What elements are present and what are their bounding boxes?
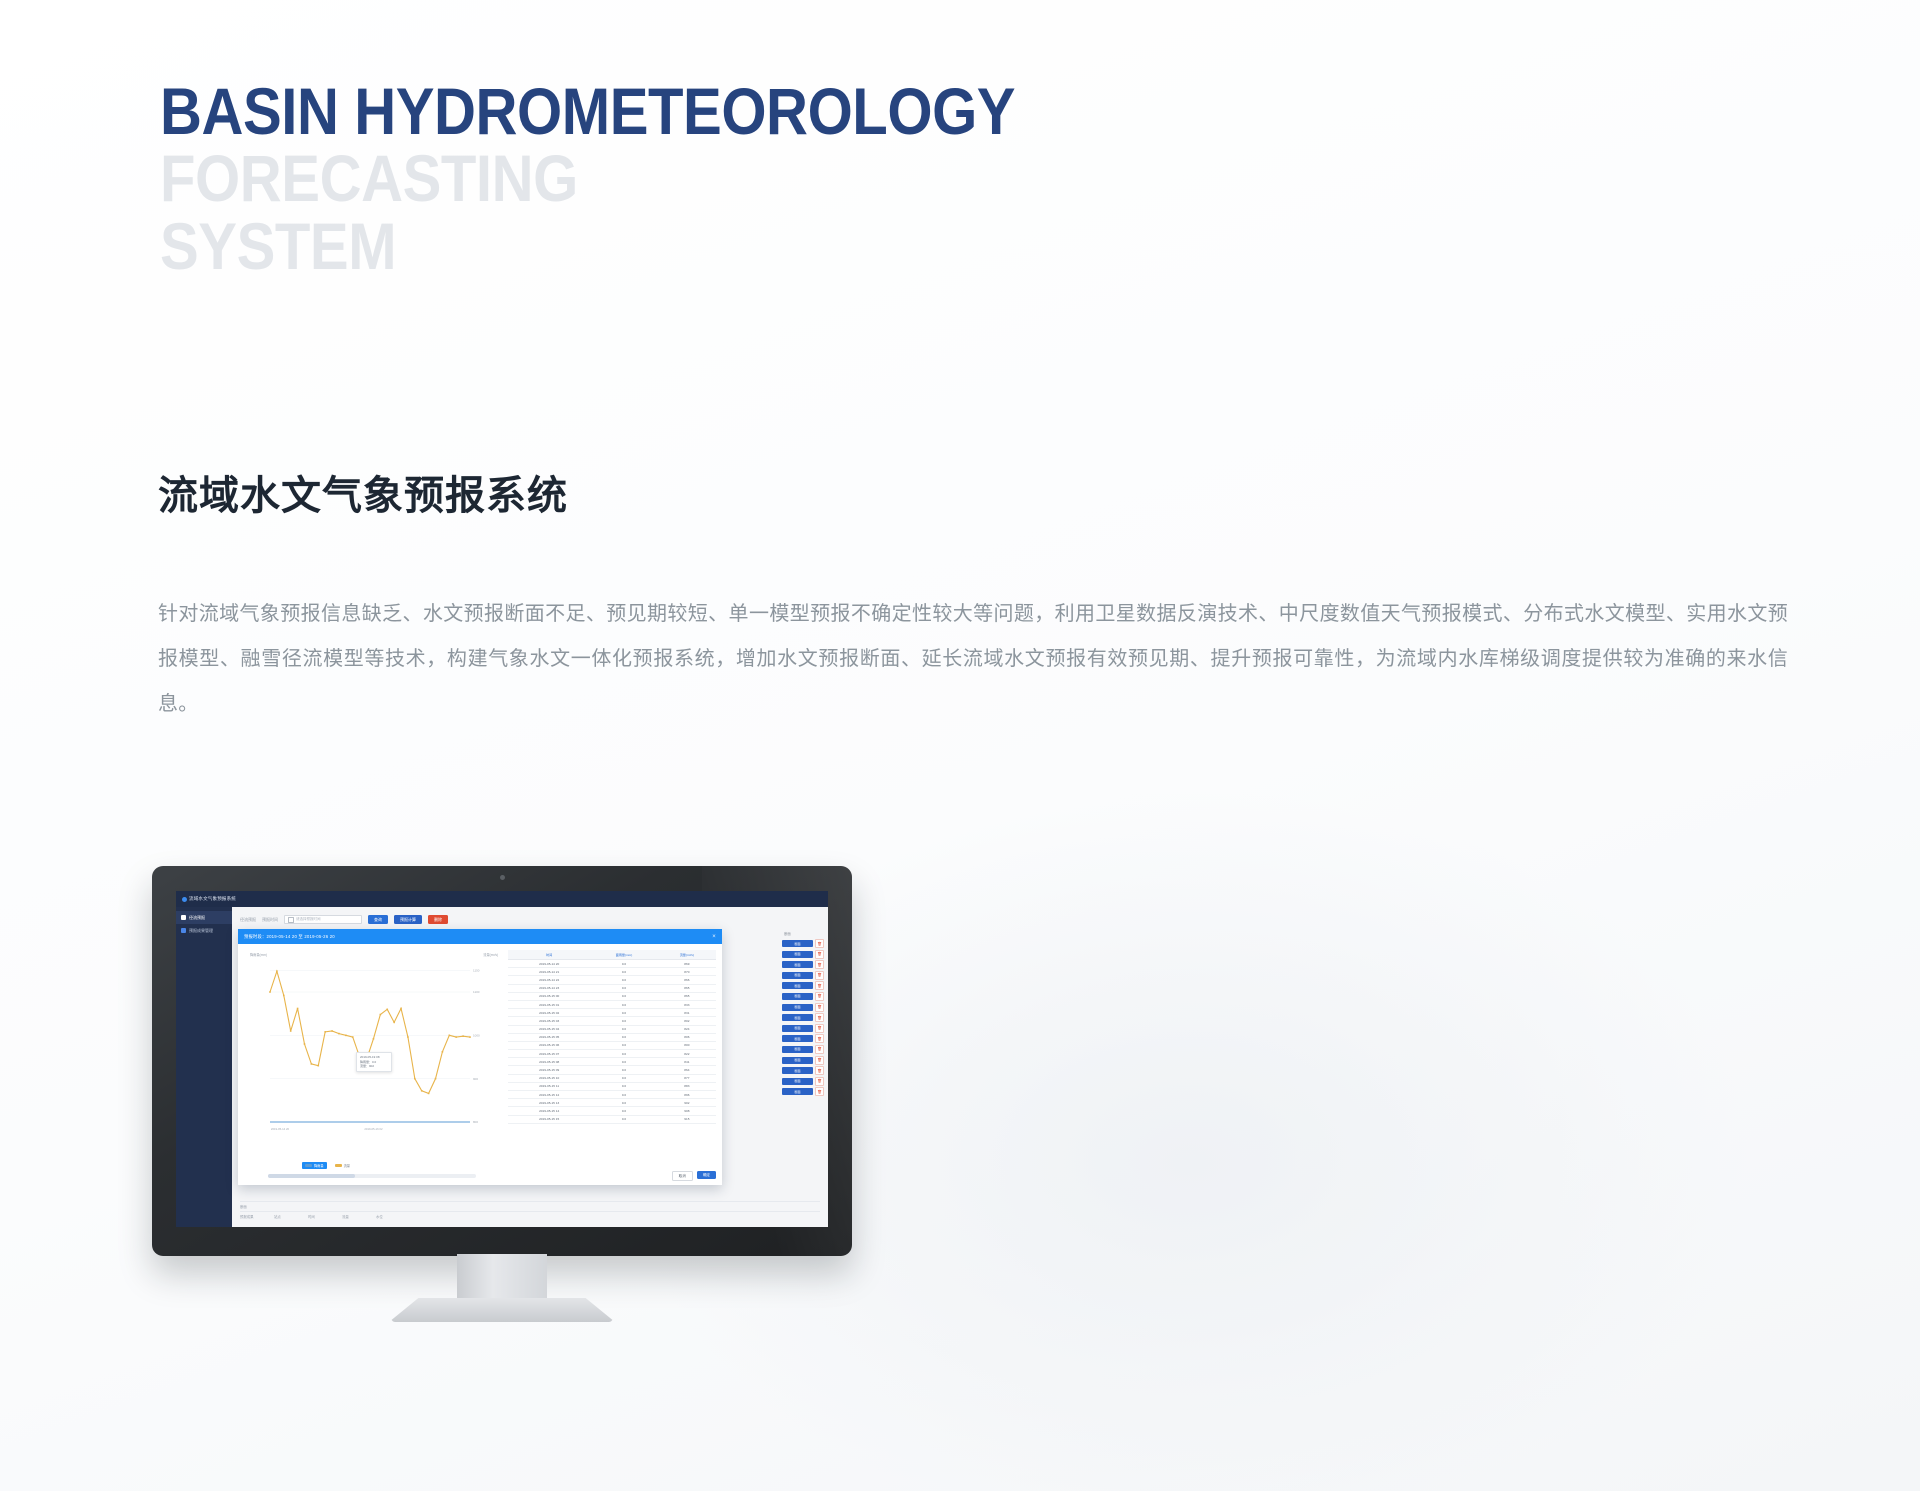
table-row[interactable]: 2019-05-15 070.0822: [508, 1050, 716, 1058]
modal-body: 降雨量(mm) 流量(m³/s) 800900100011001150 2019…: [238, 944, 722, 1185]
table-cell: 806: [658, 1033, 716, 1041]
table-cell: 802: [658, 1017, 716, 1025]
section-pill[interactable]: 断面: [782, 1014, 813, 1021]
list-item[interactable]: 断面🗑: [782, 992, 824, 1001]
table-row[interactable]: 2019-05-15 090.0864: [508, 1066, 716, 1074]
legend-item-flow[interactable]: 流量: [335, 1163, 350, 1168]
section-pill[interactable]: 断面: [782, 1088, 813, 1095]
table-row[interactable]: 2019-05-15 000.0865: [508, 992, 716, 1000]
table-row[interactable]: 2019-05-15 150.0915: [508, 1115, 716, 1123]
table-cell: 0.0: [590, 1107, 657, 1115]
section-pill[interactable]: 断面: [782, 982, 813, 989]
list-icon: [181, 928, 186, 933]
page-description: 针对流域气象预报信息缺乏、水文预报断面不足、预见期较短、单一模型预报不确定性较大…: [158, 592, 1788, 727]
table-cell: 0.0: [590, 1050, 657, 1058]
section-pill[interactable]: 断面: [782, 940, 813, 947]
forecast-app: 流域水文气象预报系统 径流预报 预报成果管理 径流预报 预报时间: [176, 891, 828, 1227]
table-cell: 0.0: [590, 1033, 657, 1041]
table-cell: 883: [658, 1082, 716, 1090]
trash-icon[interactable]: 🗑: [815, 981, 824, 990]
forecast-time-input[interactable]: 请选择预报时间: [284, 915, 362, 924]
chart-y-left-label: 降雨量(mm): [250, 952, 267, 957]
trash-icon[interactable]: 🗑: [815, 1013, 824, 1022]
table-cell: 870: [658, 968, 716, 976]
list-item[interactable]: 断面🗑: [782, 981, 824, 990]
table-column-header-1: 面雨量(mm): [590, 950, 657, 960]
trash-icon[interactable]: 🗑: [815, 1066, 824, 1075]
trash-icon[interactable]: 🗑: [815, 1045, 824, 1054]
section-list-panel: 断面 断面🗑断面🗑断面🗑断面🗑断面🗑断面🗑断面🗑断面🗑断面🗑断面🗑断面🗑断面🗑断…: [782, 929, 824, 1098]
table-row[interactable]: 2019-05-14 210.0870: [508, 968, 716, 976]
table-cell: 2019-05-15 04: [508, 1025, 590, 1033]
section-list-rows: 断面🗑断面🗑断面🗑断面🗑断面🗑断面🗑断面🗑断面🗑断面🗑断面🗑断面🗑断面🗑断面🗑断…: [782, 939, 824, 1096]
table-row[interactable]: 2019-05-15 130.0902: [508, 1099, 716, 1107]
table-cell: 915: [658, 1115, 716, 1123]
table-cell: 831: [658, 1009, 716, 1017]
table-cell: 0.0: [590, 976, 657, 984]
table-cell: 833: [658, 1000, 716, 1008]
bottom-cell-1: 时间: [308, 1214, 332, 1219]
table-cell: 2019-05-15 13: [508, 1099, 590, 1107]
table-cell: 0.0: [590, 1066, 657, 1074]
table-cell: 0.0: [590, 1115, 657, 1123]
svg-text:2019-05-16 02: 2019-05-16 02: [364, 1127, 383, 1131]
svg-text:2019-05-14 20: 2019-05-14 20: [271, 1127, 290, 1131]
cancel-button[interactable]: 取消: [672, 1171, 693, 1181]
chart-legend: 降雨量 流量: [302, 1162, 350, 1169]
forecast-time-label: 预报时间: [262, 917, 278, 923]
chart-y-right-label: 流量(m³/s): [483, 952, 498, 957]
table-cell: 0.0: [590, 1041, 657, 1049]
chart-gridlines: [270, 970, 470, 1122]
table-row[interactable]: 2019-05-14 230.0865: [508, 984, 716, 992]
legend-swatch-flow: [335, 1164, 342, 1167]
trash-icon[interactable]: 🗑: [815, 971, 824, 980]
table-row[interactable]: 2019-05-15 140.0908: [508, 1107, 716, 1115]
trash-icon[interactable]: 🗑: [815, 992, 824, 1001]
table-row[interactable]: 2019-05-15 100.0877: [508, 1074, 716, 1082]
modal-header: 预报时段：2019-05-14 20 至 2019-05-26 20 ×: [238, 929, 722, 944]
table-row[interactable]: 2019-05-15 060.0800: [508, 1041, 716, 1049]
trash-icon[interactable]: 🗑: [815, 960, 824, 969]
app-sidebar: 径流预报 预报成果管理: [176, 907, 232, 1227]
table-cell: 2019-05-14 22: [508, 976, 590, 984]
app-logo: 流域水文气象预报系统: [182, 896, 236, 902]
table-cell: 2019-05-15 06: [508, 1041, 590, 1049]
table-cell: 2019-05-15 14: [508, 1107, 590, 1115]
forecast-detail-modal: 预报时段：2019-05-14 20 至 2019-05-26 20 × 降雨量…: [238, 929, 722, 1185]
list-item[interactable]: 断面🗑: [782, 1003, 824, 1012]
table-cell: 2019-05-15 01: [508, 1000, 590, 1008]
table-cell: 0.0: [590, 1099, 657, 1107]
tooltip-flow: 流量：902: [360, 1064, 388, 1069]
svg-text:1100: 1100: [473, 990, 480, 994]
table-cell: 908: [658, 1107, 716, 1115]
section-pill[interactable]: 断面: [782, 1004, 813, 1011]
table-cell: 2019-05-15 02: [508, 1009, 590, 1017]
toolbar: 径流预报 预报时间 请选择预报时间 查询 预报计算 删除: [240, 913, 820, 926]
table-cell: 0.0: [590, 968, 657, 976]
table-row[interactable]: 2019-05-15 110.0883: [508, 1082, 716, 1090]
svg-text:1150: 1150: [473, 969, 480, 973]
chart-scrollbar[interactable]: [268, 1174, 476, 1178]
svg-text:900: 900: [473, 1077, 478, 1081]
list-item[interactable]: 断面🗑: [782, 960, 824, 969]
headline-line-1: BASIN HYDROMETEOROLOGY: [160, 78, 1216, 145]
app-main: 径流预报 预报时间 请选择预报时间 查询 预报计算 删除 断面 断面🗑断面🗑断面…: [232, 907, 828, 1227]
table-row[interactable]: 2019-05-14 200.0869: [508, 960, 716, 968]
chart-x-ticks: 2019-05-14 202019-05-16 02: [271, 1127, 383, 1131]
table-cell: 877: [658, 1074, 716, 1082]
list-item[interactable]: 断面🗑: [782, 950, 824, 959]
table-cell: 2019-05-15 09: [508, 1066, 590, 1074]
table-cell: 2019-05-14 20: [508, 960, 590, 968]
svg-text:1000: 1000: [473, 1034, 480, 1038]
bottom-cell-2: 流量: [342, 1214, 366, 1219]
table-cell: 0.0: [590, 984, 657, 992]
sidebar-item-label: 预报成果管理: [189, 928, 213, 934]
trash-icon[interactable]: 🗑: [815, 1003, 824, 1012]
table-cell: 841: [658, 1058, 716, 1066]
table-row[interactable]: 2019-05-15 010.0833: [508, 1000, 716, 1008]
query-button[interactable]: 查询: [368, 915, 388, 924]
table-cell: 866: [658, 976, 716, 984]
chart-tooltip: 2019-05-19 08 降雨量：0.0 流量：902: [356, 1052, 392, 1072]
table-cell: 0.0: [590, 1000, 657, 1008]
table-cell: 2019-05-15 03: [508, 1017, 590, 1025]
list-item[interactable]: 断面🗑: [782, 1087, 824, 1096]
confirm-button[interactable]: 确定: [697, 1171, 716, 1179]
app-title: 流域水文气象预报系统: [189, 896, 236, 902]
logo-icon: [182, 897, 187, 902]
table-row[interactable]: 2019-05-15 080.0841: [508, 1058, 716, 1066]
table-row[interactable]: 2019-05-15 120.0896: [508, 1091, 716, 1099]
legend-swatch-rain: [305, 1164, 312, 1167]
table-cell: 0.0: [590, 1017, 657, 1025]
forecast-table: 时间面雨量(mm)流量(m³/s) 2019-05-14 200.0869201…: [506, 944, 722, 1185]
table-cell: 0.0: [590, 1082, 657, 1090]
section-pill[interactable]: 断面: [782, 972, 813, 979]
table-cell: 2019-05-14 23: [508, 984, 590, 992]
table-body: 2019-05-14 200.08692019-05-14 210.087020…: [508, 960, 716, 1124]
delete-button[interactable]: 删除: [428, 915, 448, 924]
sidebar-item-runoff-forecast[interactable]: 径流预报: [176, 911, 232, 924]
forecast-chart: 降雨量(mm) 流量(m³/s) 800900100011001150 2019…: [238, 944, 506, 1185]
list-item[interactable]: 断面🗑: [782, 1066, 824, 1075]
legend-label-flow: 流量: [344, 1163, 350, 1168]
list-item[interactable]: 断面🗑: [782, 1034, 824, 1043]
calendar-icon: [288, 917, 294, 923]
table-row[interactable]: 2019-05-15 020.0831: [508, 1009, 716, 1017]
section-pill[interactable]: 断面: [782, 961, 813, 968]
bottom-cell-0: 站点: [274, 1214, 298, 1219]
section-pill[interactable]: 断面: [782, 1057, 813, 1064]
list-item[interactable]: 断面🗑: [782, 971, 824, 980]
headline-line-3: SYSTEM: [160, 213, 1216, 280]
table-cell: 2019-05-15 00: [508, 992, 590, 1000]
table-column-header-2: 流量(m³/s): [658, 950, 716, 960]
table-cell: 2019-05-14 21: [508, 968, 590, 976]
table-cell: 0.0: [590, 960, 657, 968]
table-row[interactable]: 2019-05-15 030.0802: [508, 1017, 716, 1025]
table-cell: 2019-05-15 15: [508, 1115, 590, 1123]
table-cell: 869: [658, 960, 716, 968]
sidebar-item-results[interactable]: 预报成果管理: [176, 924, 232, 937]
monitor-mockup: 流域水文气象预报系统 径流预报 预报成果管理 径流预报 预报时间: [152, 866, 852, 1286]
page-headline: BASIN HYDROMETEOROLOGY FORECASTING SYSTE…: [160, 78, 1216, 280]
table-cell: 2019-05-15 11: [508, 1082, 590, 1090]
modal-footer: 取消 确定: [672, 1171, 716, 1181]
bottom-panel: 断面 预报成果 站点 时间 流量 水位: [240, 1201, 820, 1221]
section-list-header: 断面: [782, 929, 824, 939]
table-cell: 2019-05-15 05: [508, 1033, 590, 1041]
section-pill[interactable]: 断面: [782, 993, 813, 1000]
trash-icon[interactable]: 🗑: [815, 1077, 824, 1086]
bottom-row-b: 预报成果 站点 时间 流量 水位: [240, 1211, 820, 1221]
sidebar-item-label: 径流预报: [189, 915, 205, 921]
section-pill[interactable]: 断面: [782, 1078, 813, 1085]
table-cell: 0.0: [590, 1091, 657, 1099]
bottom-label-a: 断面: [240, 1204, 264, 1209]
monitor-stand-base: [389, 1298, 615, 1322]
chart-data-points: [269, 970, 471, 1094]
table-cell: 864: [658, 1066, 716, 1074]
table-row[interactable]: 2019-05-14 220.0866: [508, 976, 716, 984]
table-cell: 865: [658, 992, 716, 1000]
list-item[interactable]: 断面🗑: [782, 939, 824, 948]
bottom-row-a: 断面: [240, 1201, 820, 1211]
list-item[interactable]: 断面🗑: [782, 1056, 824, 1065]
report-icon: [181, 915, 186, 920]
section-pill[interactable]: 断面: [782, 1046, 813, 1053]
list-item[interactable]: 断面🗑: [782, 1024, 824, 1033]
trash-icon[interactable]: 🗑: [815, 950, 824, 959]
table-cell: 0.0: [590, 1058, 657, 1066]
trash-icon[interactable]: 🗑: [815, 1087, 824, 1096]
table-header-row: 时间面雨量(mm)流量(m³/s): [508, 950, 716, 960]
table-cell: 800: [658, 1041, 716, 1049]
table-cell: 896: [658, 1091, 716, 1099]
table-column-header-0: 时间: [508, 950, 590, 960]
table-cell: 865: [658, 984, 716, 992]
table-cell: 2019-05-15 07: [508, 1050, 590, 1058]
table-cell: 2019-05-15 12: [508, 1091, 590, 1099]
headline-line-2: FORECASTING: [160, 145, 1216, 212]
table-row[interactable]: 2019-05-15 050.0806: [508, 1033, 716, 1041]
table-cell: 0.0: [590, 1009, 657, 1017]
section-pill[interactable]: 断面: [782, 1025, 813, 1032]
table-row[interactable]: 2019-05-15 040.0824: [508, 1025, 716, 1033]
trash-icon[interactable]: 🗑: [815, 939, 824, 948]
table-cell: 0.0: [590, 1074, 657, 1082]
table-cell: 2019-05-15 08: [508, 1058, 590, 1066]
trash-icon[interactable]: 🗑: [815, 1056, 824, 1065]
table-cell: 2019-05-15 10: [508, 1074, 590, 1082]
list-item[interactable]: 断面🗑: [782, 1077, 824, 1086]
chart-series-flow: [270, 971, 470, 1093]
chart-scrollbar-thumb[interactable]: [268, 1174, 355, 1178]
legend-item-rain[interactable]: 降雨量: [302, 1162, 327, 1169]
table-cell: 902: [658, 1099, 716, 1107]
modal-title: 预报时段：2019-05-14 20 至 2019-05-26 20: [244, 934, 712, 940]
monitor-stand-neck: [457, 1254, 547, 1302]
app-topbar: 流域水文气象预报系统: [176, 891, 828, 907]
table-cell: 0.0: [590, 1025, 657, 1033]
chart-y-ticks: 800900100011001150: [473, 969, 480, 1125]
bottom-label-b: 预报成果: [240, 1214, 264, 1219]
svg-text:800: 800: [473, 1120, 478, 1124]
page-title: 流域水文气象预报系统: [158, 463, 568, 521]
table-cell: 0.0: [590, 992, 657, 1000]
forecast-time-placeholder: 请选择预报时间: [296, 917, 321, 922]
section-pill[interactable]: 断面: [782, 1067, 813, 1074]
bottom-cell-3: 水位: [376, 1214, 400, 1219]
trash-icon[interactable]: 🗑: [815, 1024, 824, 1033]
close-icon[interactable]: ×: [712, 934, 716, 940]
breadcrumb: 径流预报: [240, 917, 256, 923]
legend-label-rain: 降雨量: [314, 1163, 324, 1168]
list-item[interactable]: 断面🗑: [782, 1045, 824, 1054]
table-cell: 824: [658, 1025, 716, 1033]
webcam-icon: [500, 875, 505, 880]
section-pill[interactable]: 断面: [782, 951, 813, 958]
section-pill[interactable]: 断面: [782, 1035, 813, 1042]
calculate-button[interactable]: 预报计算: [394, 915, 422, 924]
list-item[interactable]: 断面🗑: [782, 1013, 824, 1022]
monitor-screen: 流域水文气象预报系统 径流预报 预报成果管理 径流预报 预报时间: [176, 891, 828, 1227]
trash-icon[interactable]: 🗑: [815, 1034, 824, 1043]
table-cell: 822: [658, 1050, 716, 1058]
